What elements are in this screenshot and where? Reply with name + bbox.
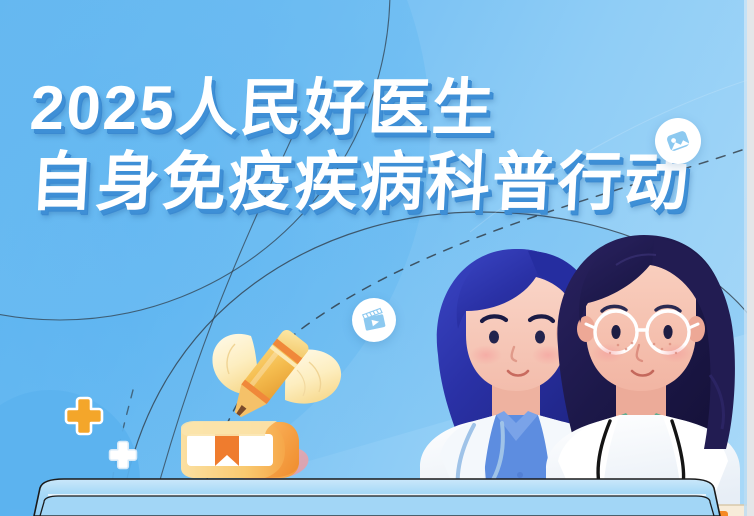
book xyxy=(181,421,299,478)
video-badge-icon[interactable] xyxy=(352,298,396,342)
title-line-2: 自身免疫疾病科普行动 xyxy=(28,150,691,214)
eye-right-b xyxy=(663,325,672,339)
plus-white-icon xyxy=(108,440,138,470)
right-edge-strip xyxy=(747,0,754,516)
eye-left-a xyxy=(489,331,499,344)
desk-bar xyxy=(0,478,754,516)
doctor-glasses xyxy=(546,235,752,516)
winged-pencil-and-book-illustration xyxy=(165,300,365,500)
plus-orange-icon xyxy=(64,396,104,436)
two-doctors-illustration xyxy=(410,225,754,516)
eye-left-b xyxy=(535,331,545,344)
poster-banner: 2025人民好医生 自身免疫疾病科普行动 xyxy=(0,0,754,516)
poster-title: 2025人民好医生 自身免疫疾病科普行动 xyxy=(30,78,690,214)
image-badge-icon[interactable] xyxy=(655,118,701,164)
title-line-1: 2025人民好医生 xyxy=(28,78,691,140)
clapperboard-play-icon xyxy=(360,306,388,334)
picture-icon xyxy=(664,127,692,155)
eye-right-a xyxy=(611,325,620,339)
